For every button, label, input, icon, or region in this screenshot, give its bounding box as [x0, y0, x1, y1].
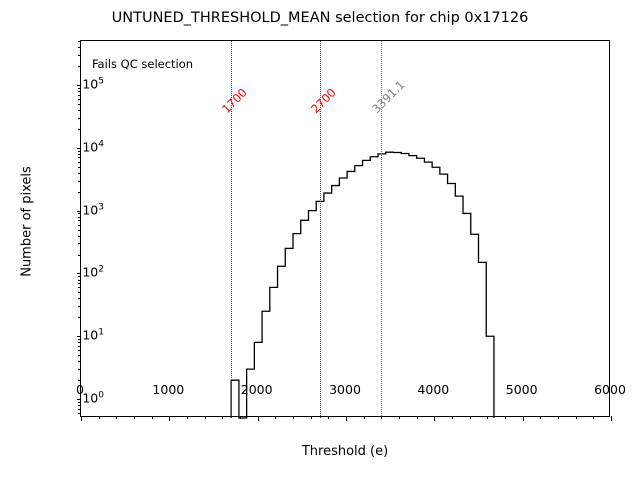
x-minor-tick [275, 416, 276, 419]
x-minor-tick [487, 416, 488, 419]
x-tick [611, 416, 612, 421]
x-tick [434, 416, 435, 421]
y-minor-tick [78, 41, 81, 42]
x-minor-tick [381, 416, 382, 419]
y-minor-tick [78, 405, 81, 406]
y-minor-tick [78, 154, 81, 155]
y-minor-tick [78, 276, 81, 277]
y-minor-tick [78, 157, 81, 158]
y-minor-tick [78, 255, 81, 256]
y-minor-tick [78, 167, 81, 168]
x-minor-tick [399, 416, 400, 419]
y-minor-tick [78, 298, 81, 299]
y-minor-tick [78, 173, 81, 174]
y-minor-tick [78, 110, 81, 111]
y-minor-tick [78, 402, 81, 403]
y-minor-tick [78, 317, 81, 318]
y-minor-tick [78, 361, 81, 362]
x-minor-tick [470, 416, 471, 419]
x-minor-tick [328, 416, 329, 419]
chart-title: UNTUNED_THRESHOLD_MEAN selection for chi… [0, 10, 640, 26]
y-minor-tick [78, 350, 81, 351]
y-minor-tick [78, 225, 81, 226]
y-tick [77, 273, 82, 274]
y-minor-tick [78, 99, 81, 100]
y-minor-tick [78, 280, 81, 281]
x-minor-tick [116, 416, 117, 419]
y-minor-tick [78, 217, 81, 218]
x-tick [523, 416, 524, 421]
y-minor-tick [78, 88, 81, 89]
x-minor-tick [152, 416, 153, 419]
y-minor-tick [78, 346, 81, 347]
y-minor-tick [78, 91, 81, 92]
y-minor-tick [78, 306, 81, 307]
y-minor-tick [78, 409, 81, 410]
x-minor-tick [417, 416, 418, 419]
x-tick [258, 416, 259, 421]
y-minor-tick [78, 292, 81, 293]
x-minor-tick [505, 416, 506, 419]
y-minor-tick [78, 47, 81, 48]
y-tick [77, 399, 82, 400]
x-tick-label: 3000 [329, 382, 361, 397]
y-minor-tick [78, 243, 81, 244]
y-tick [77, 148, 82, 149]
x-minor-tick [205, 416, 206, 419]
x-tick-label: 6000 [594, 382, 626, 397]
y-minor-tick [78, 230, 81, 231]
histogram-series [81, 41, 611, 418]
y-minor-tick [78, 413, 81, 414]
x-tick-label: 1000 [152, 382, 184, 397]
y-minor-tick [78, 369, 81, 370]
y-minor-tick [78, 66, 81, 67]
y-minor-tick [78, 287, 81, 288]
x-axis-label: Threshold (e) [80, 444, 610, 459]
x-minor-tick [452, 416, 453, 419]
y-tick [77, 336, 82, 337]
x-minor-tick [593, 416, 594, 419]
x-minor-tick [293, 416, 294, 419]
y-minor-tick [78, 129, 81, 130]
x-tick [346, 416, 347, 421]
y-minor-tick [78, 55, 81, 56]
x-minor-tick [311, 416, 312, 419]
x-minor-tick [99, 416, 100, 419]
x-minor-tick [540, 416, 541, 419]
y-minor-tick [78, 213, 81, 214]
x-minor-tick [222, 416, 223, 419]
plot-axes: Fails QC selection [80, 40, 610, 417]
x-minor-tick [134, 416, 135, 419]
y-minor-tick [78, 339, 81, 340]
y-tick [77, 211, 82, 212]
x-minor-tick [187, 416, 188, 419]
y-minor-tick [78, 162, 81, 163]
histogram-step-line [231, 152, 494, 418]
y-axis-label: Number of pixels [20, 97, 35, 347]
y-minor-tick [78, 151, 81, 152]
y-tick [77, 85, 82, 86]
x-tick-label: 2000 [241, 382, 273, 397]
y-tick-label: 104 [82, 139, 104, 154]
y-tick-label: 102 [82, 265, 104, 280]
y-minor-tick [78, 220, 81, 221]
y-minor-tick [78, 192, 81, 193]
y-tick-label: 100 [82, 391, 104, 406]
x-minor-tick [558, 416, 559, 419]
x-tick [169, 416, 170, 421]
x-tick-label: 4000 [417, 382, 449, 397]
y-minor-tick [78, 355, 81, 356]
y-tick-label: 105 [82, 76, 104, 91]
y-minor-tick [78, 283, 81, 284]
x-tick [81, 416, 82, 421]
y-minor-tick [78, 380, 81, 381]
y-minor-tick [78, 181, 81, 182]
y-tick-label: 101 [82, 328, 104, 343]
y-minor-tick [78, 342, 81, 343]
x-minor-tick [364, 416, 365, 419]
y-minor-tick [78, 118, 81, 119]
y-tick-label: 103 [82, 202, 104, 217]
x-tick-label: 5000 [506, 382, 538, 397]
x-minor-tick [576, 416, 577, 419]
y-minor-tick [78, 95, 81, 96]
y-minor-tick [78, 104, 81, 105]
figure-canvas: UNTUNED_THRESHOLD_MEAN selection for chi… [0, 0, 640, 480]
x-minor-tick [240, 416, 241, 419]
y-minor-tick [78, 236, 81, 237]
